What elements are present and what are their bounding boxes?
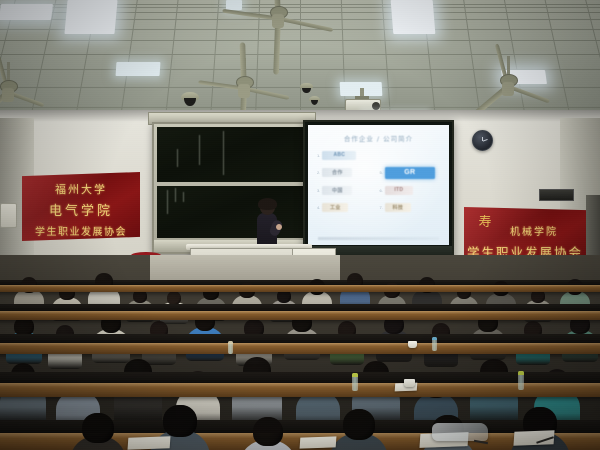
wall-mounted-sign	[539, 189, 574, 201]
classroom-photo: 合作企业 / 公司简介 1. ABC 2. 合作 5. GR 3. 中国 6. …	[0, 0, 600, 450]
logo-index: 4.	[317, 205, 320, 210]
logo-mark: 科技	[385, 203, 411, 212]
panel-light-3	[116, 62, 161, 76]
fan-motor	[2, 88, 14, 102]
banner-right-line-1: 机械学院	[482, 223, 586, 238]
logo-mark: 中国	[322, 186, 352, 195]
chalkboard-panel-upper	[157, 127, 309, 182]
clock-minute-hand	[483, 138, 488, 141]
ceiling-fan-1	[222, 0, 334, 39]
dome-camera-lens-icon	[302, 88, 310, 94]
slide-logo-row: 4. 工业 7. 科技	[317, 202, 442, 214]
slide-logo-row: 2. 合作 5. GR	[317, 167, 442, 179]
slide-footer-text	[318, 237, 439, 240]
logo-mark: 工业	[322, 203, 348, 212]
slide-logo-grid: 1. ABC 2. 合作 5. GR 3. 中国 6. ITD 4. 工业	[317, 149, 442, 219]
audience-person	[330, 409, 388, 450]
dome-camera-1	[181, 92, 199, 106]
audience-person	[70, 413, 126, 450]
presenter-hand	[276, 224, 282, 230]
water-bottle	[432, 337, 437, 351]
water-bottle	[518, 371, 524, 390]
slide-logo-row: 1. ABC	[317, 149, 442, 161]
ceiling-projector	[345, 88, 379, 110]
panel-light-1	[0, 4, 53, 20]
logo-index: 6.	[380, 188, 383, 193]
notebook-paper	[128, 436, 171, 449]
notebook-paper	[300, 436, 337, 448]
ceiling	[0, 0, 600, 118]
logo-sponsor-1: 1. ABC	[317, 151, 380, 160]
logo-index: 1.	[317, 153, 320, 158]
slide-title: 合作企业 / 公司简介	[308, 133, 449, 143]
fan-blade	[278, 17, 334, 32]
logo-index: 2.	[317, 170, 320, 175]
logo-sponsor-2: 2. 合作	[317, 168, 380, 177]
logo-mark: ITD	[385, 186, 413, 195]
person-head	[82, 413, 113, 443]
banner-left-line-3: 学生职业发展协会	[22, 223, 140, 238]
banner-left-line-1: 福州大学	[22, 181, 140, 197]
banner-left-line-2: 电气学院	[22, 200, 140, 219]
projection-screen: 合作企业 / 公司简介 1. ABC 2. 合作 5. GR 3. 中国 6. …	[308, 125, 449, 245]
fan-motor	[238, 84, 250, 98]
bottle-cap	[432, 337, 437, 340]
presenter-hair	[258, 198, 277, 210]
water-bottle	[352, 373, 358, 391]
projection-screen-frame: 合作企业 / 公司简介 1. ABC 2. 合作 5. GR 3. 中国 6. …	[303, 120, 454, 261]
paper-cup	[408, 341, 417, 348]
water-bottle	[228, 341, 233, 354]
slide-logo-row: 3. 中国 6. ITD	[317, 184, 442, 196]
ceiling-fan-3	[464, 56, 552, 87]
person-head	[253, 417, 283, 446]
bottle-cap	[228, 341, 233, 344]
wall-utility-box	[0, 203, 17, 228]
logo-sponsor-3: 3. 中国	[317, 186, 380, 195]
ceiling-fan-2	[198, 58, 290, 90]
projector-lens-icon	[372, 102, 380, 110]
logo-index: 5.	[380, 170, 383, 175]
fan-motor	[272, 14, 284, 28]
logo-mark: 合作	[322, 168, 352, 177]
desk-row	[0, 285, 600, 292]
paper-cup	[404, 379, 415, 387]
plastic-bag	[432, 423, 488, 441]
banner-seal-icon: 寿	[476, 213, 494, 233]
chalkboard	[152, 122, 314, 254]
bottle-cap	[518, 371, 524, 375]
logo-sponsor-5: 5. GR	[380, 167, 443, 179]
audience-area	[0, 255, 600, 450]
desk-row	[0, 383, 600, 397]
desk-row	[0, 311, 600, 320]
logo-sponsor-6: 6. ITD	[380, 186, 443, 195]
banner-left: 福州大学 电气学院 学生职业发展协会	[22, 172, 140, 241]
dome-camera-3	[309, 96, 320, 105]
bottle-cap	[352, 373, 358, 377]
logo-mark: GR	[385, 167, 435, 179]
logo-mark: ABC	[322, 151, 356, 160]
dome-camera-lens-icon	[311, 100, 318, 105]
chalkboard-panel-lower	[157, 186, 309, 238]
logo-sponsor-7: 7. 科技	[380, 203, 443, 212]
audience-person	[240, 417, 296, 450]
panel-light-6	[391, 0, 436, 34]
wall-clock	[472, 130, 493, 151]
dome-camera-lens-icon	[184, 98, 196, 106]
dome-camera-2	[300, 83, 313, 93]
person-head	[167, 291, 182, 305]
logo-index: 3.	[317, 188, 320, 193]
desk-row	[0, 343, 600, 354]
logo-sponsor-4: 4. 工业	[317, 203, 380, 212]
person-head	[343, 409, 375, 440]
fan-motor	[502, 82, 514, 96]
panel-light-2	[64, 0, 117, 34]
ceiling-fan-4	[0, 62, 46, 89]
logo-index: 7.	[380, 205, 383, 210]
person-head	[163, 405, 196, 437]
